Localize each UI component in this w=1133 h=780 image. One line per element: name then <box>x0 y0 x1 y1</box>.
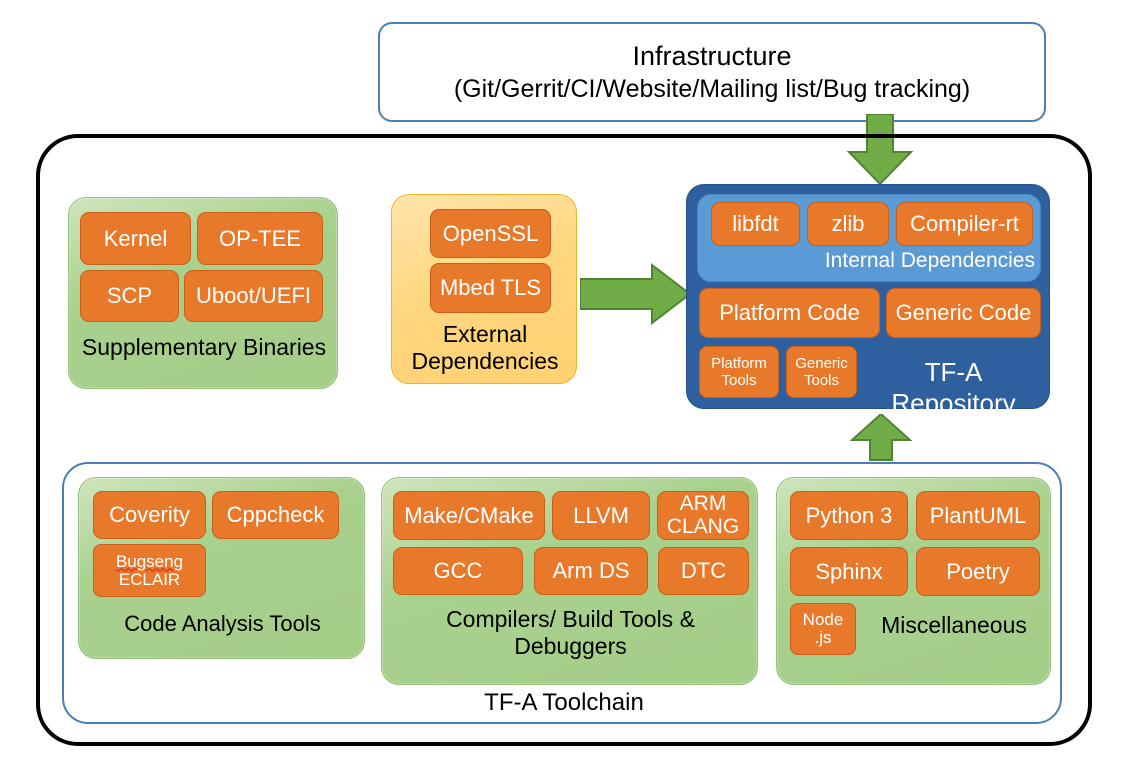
chip-make-cmake[interactable]: Make/CMake <box>393 491 545 540</box>
internal-dependencies-group: libfdt zlib Compiler-rt Internal Depende… <box>697 194 1041 282</box>
chip-nodejs-line2: .js <box>815 629 832 647</box>
chip-nodejs-line1: Node <box>803 611 844 629</box>
chip-sphinx[interactable]: Sphinx <box>790 547 908 596</box>
chip-compiler-rt[interactable]: Compiler-rt <box>896 202 1033 246</box>
supplementary-binaries-group: Kernel OP-TEE SCP Uboot/UEFI Supplementa… <box>68 197 338 389</box>
chip-arm-clang[interactable]: ARM CLANG <box>657 491 749 540</box>
chip-generic-tools[interactable]: Generic Tools <box>786 346 857 398</box>
chip-bugseng-eclair-line1: Bugseng <box>116 553 183 571</box>
chip-libfdt[interactable]: libfdt <box>711 202 800 246</box>
chip-generic-code[interactable]: Generic Code <box>886 288 1041 338</box>
chip-generic-tools-line1: Generic <box>795 355 848 372</box>
external-dependencies-caption: External Dependencies <box>392 321 578 375</box>
chip-bugseng-eclair[interactable]: Bugseng ECLAIR <box>93 544 206 597</box>
chip-platform-code[interactable]: Platform Code <box>699 288 880 338</box>
chip-mbed-tls[interactable]: Mbed TLS <box>430 263 551 313</box>
compilers-caption-line2: Debuggers <box>382 633 759 660</box>
chip-arm-clang-line2: CLANG <box>667 516 739 538</box>
compilers-build-tools-caption: Compilers/ Build Tools & Debuggers <box>382 606 759 660</box>
external-dependencies-group: OpenSSL Mbed TLS External Dependencies <box>391 194 577 384</box>
arrow-external-deps-to-repository <box>580 263 692 330</box>
chip-uboot-uefi[interactable]: Uboot/UEFI <box>184 270 323 322</box>
external-dependencies-caption-line1: External <box>392 321 578 348</box>
arrow-toolchain-to-repository <box>850 414 912 467</box>
chip-arm-clang-line1: ARM <box>680 493 727 515</box>
miscellaneous-caption: Miscellaneous <box>859 612 1049 639</box>
code-analysis-tools-caption: Code Analysis Tools <box>79 611 366 637</box>
chip-platform-tools-line2: Tools <box>721 372 756 389</box>
chip-dtc[interactable]: DTC <box>658 547 749 595</box>
chip-gcc[interactable]: GCC <box>393 547 523 595</box>
supplementary-binaries-caption: Supplementary Binaries <box>69 334 339 361</box>
miscellaneous-group: Python 3 PlantUML Sphinx Poetry Node .js… <box>776 477 1051 685</box>
chip-zlib[interactable]: zlib <box>807 202 889 246</box>
chip-nodejs[interactable]: Node .js <box>790 603 856 655</box>
chip-generic-tools-line2: Tools <box>804 372 839 389</box>
internal-dependencies-caption: Internal Dependencies <box>698 249 1035 274</box>
infrastructure-title: Infrastructure <box>632 39 791 74</box>
tfa-toolchain-caption: TF-A Toolchain <box>64 689 1064 717</box>
chip-python-3[interactable]: Python 3 <box>790 491 908 540</box>
infrastructure-box: Infrastructure (Git/Gerrit/CI/Website/Ma… <box>378 22 1046 122</box>
tfa-repository-caption: TF-A Repository <box>861 357 1046 418</box>
chip-coverity[interactable]: Coverity <box>93 491 206 539</box>
chip-platform-tools-line1: Platform <box>711 355 767 372</box>
code-analysis-tools-group: Coverity Cppcheck Bugseng ECLAIR Code An… <box>78 477 365 659</box>
chip-openssl[interactable]: OpenSSL <box>430 209 551 258</box>
chip-llvm[interactable]: LLVM <box>552 491 650 540</box>
compilers-caption-line1: Compilers/ Build Tools & <box>382 606 759 633</box>
chip-op-tee[interactable]: OP-TEE <box>197 212 323 265</box>
chip-arm-ds[interactable]: Arm DS <box>534 547 648 595</box>
chip-bugseng-eclair-line2: ECLAIR <box>119 571 180 589</box>
tfa-toolchain-group: Coverity Cppcheck Bugseng ECLAIR Code An… <box>62 462 1062 724</box>
chip-scp[interactable]: SCP <box>80 270 179 322</box>
chip-plantuml[interactable]: PlantUML <box>916 491 1040 540</box>
chip-platform-tools[interactable]: Platform Tools <box>699 346 779 398</box>
external-dependencies-caption-line2: Dependencies <box>392 348 578 375</box>
chip-kernel[interactable]: Kernel <box>80 212 191 265</box>
infrastructure-subtitle: (Git/Gerrit/CI/Website/Mailing list/Bug … <box>454 73 970 105</box>
tfa-repository-group: libfdt zlib Compiler-rt Internal Depende… <box>686 184 1050 409</box>
chip-poetry[interactable]: Poetry <box>916 547 1040 596</box>
compilers-build-tools-group: Make/CMake LLVM ARM CLANG GCC Arm DS DTC… <box>381 477 758 685</box>
chip-cppcheck[interactable]: Cppcheck <box>212 491 339 539</box>
